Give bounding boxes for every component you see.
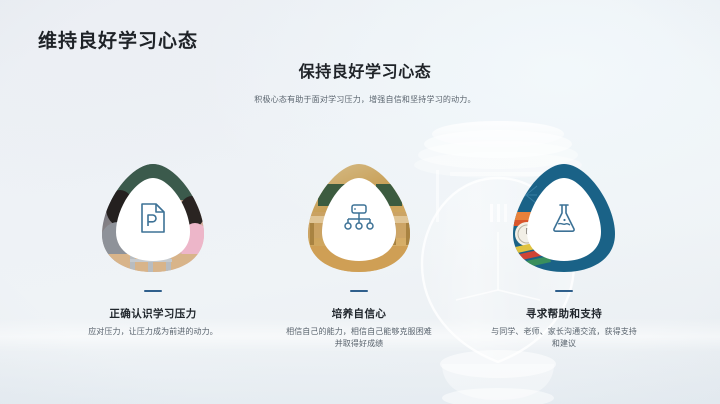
- card-2-description: 相信自己的能力，相信自己能够克服困难并取得好成绩: [269, 326, 449, 350]
- card-3-description: 与同学、老师、家长沟通交流，获得支持和建议: [474, 326, 654, 350]
- card-2-divider: [350, 290, 368, 292]
- card-3-title: 寻求帮助和支持: [474, 306, 654, 321]
- page-title: 保持良好学习心态: [190, 58, 540, 82]
- card-3-divider: [555, 290, 573, 292]
- card-2-blob: [302, 160, 416, 276]
- hierarchy-chart-icon: [302, 160, 416, 276]
- presentation-slide: 维持良好学习心态 保持良好学习心态 积极心态有助于面对学习压力，增强自信和坚持学…: [0, 0, 720, 404]
- feature-card-1[interactable]: 正确认识学习压力 应对压力，让压力成为前进的动力。: [63, 160, 243, 338]
- flask-icon: [507, 160, 621, 276]
- card-1-blob: [96, 160, 210, 276]
- feature-card-2[interactable]: 培养自信心 相信自己的能力，相信自己能够克服困难并取得好成绩: [269, 160, 449, 350]
- card-2-title: 培养自信心: [269, 306, 449, 321]
- card-1-divider: [144, 290, 162, 292]
- feature-card-3[interactable]: 寻求帮助和支持 与同学、老师、家长沟通交流，获得支持和建议: [474, 160, 654, 350]
- background-sheen-band-lower: [0, 352, 720, 404]
- card-1-description: 应对压力，让压力成为前进的动力。: [63, 326, 243, 338]
- slide-corner-title: 维持良好学习心态: [38, 26, 198, 53]
- card-3-blob: [507, 160, 621, 276]
- card-1-title: 正确认识学习压力: [63, 306, 243, 321]
- page-subtitle: 积极心态有助于面对学习压力，增强自信和坚持学习的动力。: [180, 94, 550, 105]
- document-p-icon: [96, 160, 210, 276]
